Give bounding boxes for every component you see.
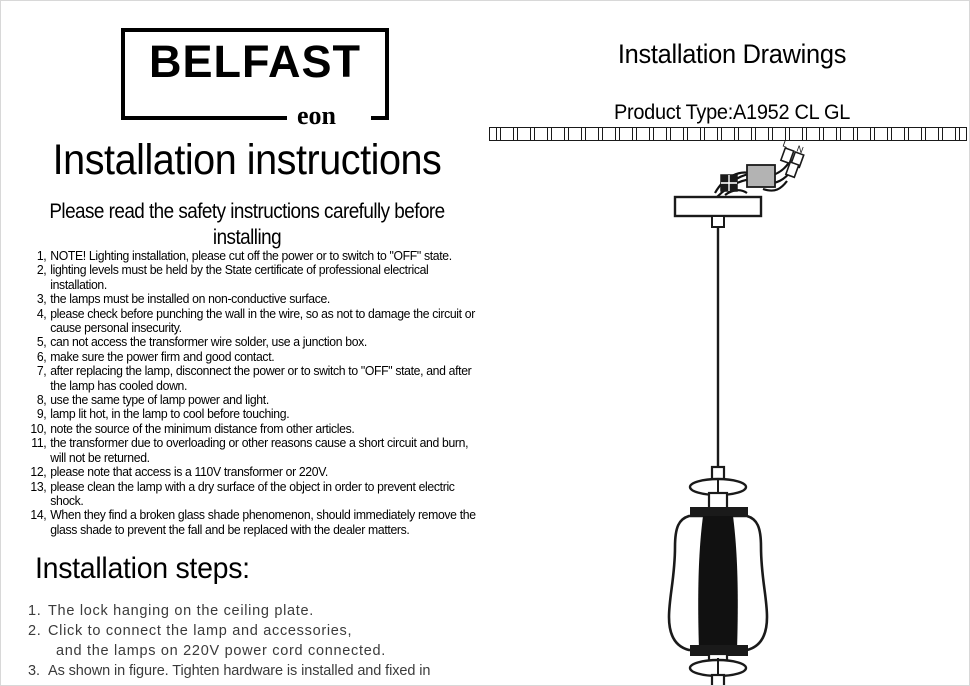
product-type-label: Product Type: <box>614 101 733 124</box>
safety-note-number: 8, <box>25 393 50 407</box>
safety-note-text: note the source of the minimum distance … <box>50 422 477 436</box>
installation-instruction-sheet: BELFAST eon Installation instructions Pl… <box>0 0 970 686</box>
installation-step-text: As shown in figure. Tighten hardware is … <box>48 661 488 686</box>
safety-note-item: 4,please check before punching the wall … <box>25 307 477 336</box>
safety-note-number: 10, <box>25 422 50 436</box>
logo-border-bottom-left <box>121 116 287 120</box>
installation-step-item: 2.Click to connect the lamp and accessor… <box>28 621 488 641</box>
safety-note-text: please note that access is a 110V transf… <box>50 465 477 479</box>
safety-note-item: 12,please note that access is a 110V tra… <box>25 465 477 479</box>
installation-step-item: 1.The lock hanging on the ceiling plate. <box>28 601 488 621</box>
safety-note-item: 13,please clean the lamp with a dry surf… <box>25 480 477 509</box>
page-title: Installation instructions <box>21 135 474 185</box>
safety-note-item: 6,make sure the power firm and good cont… <box>25 350 477 364</box>
safety-note-text: use the same type of lamp power and ligh… <box>50 393 477 407</box>
installation-steps-title: Installation steps: <box>35 551 250 587</box>
installation-step-number: 2. <box>28 621 48 641</box>
safety-note-text: When they find a broken glass shade phen… <box>50 508 477 537</box>
safety-note-text: please clean the lamp with a dry surface… <box>50 480 477 509</box>
lamp-assembly-svg: L N <box>493 127 970 686</box>
safety-note-text: please check before punching the wall in… <box>50 307 477 336</box>
safety-note-number: 4, <box>25 307 50 321</box>
safety-note-number: 6, <box>25 350 50 364</box>
right-column: Installation Drawings Product Type:A1952… <box>493 1 970 686</box>
safety-note-text: NOTE! Lighting installation, please cut … <box>50 249 477 263</box>
brand-name: BELFAST <box>121 34 389 90</box>
safety-notes-list: 1,NOTE! Lighting installation, please cu… <box>25 249 491 537</box>
safety-note-text: lighting levels must be held by the Stat… <box>50 263 477 292</box>
installation-steps-list: 1.The lock hanging on the ceiling plate.… <box>28 601 488 686</box>
safety-note-item: 5,can not access the transformer wire so… <box>25 335 477 349</box>
safety-note-text: after replacing the lamp, disconnect the… <box>50 364 477 393</box>
safety-note-item: 2,lighting levels must be held by the St… <box>25 263 477 292</box>
bottom-finial <box>712 675 724 686</box>
safety-note-number: 5, <box>25 335 50 349</box>
product-type: Product Type:A1952 CL GL <box>505 99 959 127</box>
logo-border-bottom-right <box>371 116 389 120</box>
safety-note-number: 14, <box>25 508 50 522</box>
safety-note-item: 10,note the source of the minimum distan… <box>25 422 477 436</box>
wire-label-neutral: N <box>795 143 805 155</box>
page-subtitle: Please read the safety instructions care… <box>26 199 469 251</box>
safety-note-item: 11,the transformer due to overloading or… <box>25 436 477 465</box>
safety-note-number: 3, <box>25 292 50 306</box>
brand-logo: BELFAST eon <box>121 28 389 120</box>
installation-step-item: 3.As shown in figure. Tighten hardware i… <box>28 661 488 686</box>
safety-note-number: 9, <box>25 407 50 421</box>
glass-shade-dark-band <box>698 516 738 650</box>
safety-note-item: 1,NOTE! Lighting installation, please cu… <box>25 249 477 263</box>
brand-subname: eon <box>293 103 340 129</box>
drawings-title: Installation Drawings <box>507 37 956 71</box>
safety-note-text: the lamps must be installed on non-condu… <box>50 292 477 306</box>
safety-note-number: 13, <box>25 480 50 494</box>
junction-box <box>747 165 775 187</box>
installation-step-number: 1. <box>28 601 48 621</box>
wire-label-live: L <box>781 138 789 149</box>
installation-step-number: 3. <box>28 661 48 681</box>
safety-note-text: make sure the power firm and good contac… <box>50 350 477 364</box>
safety-note-text: lamp lit hot, in the lamp to cool before… <box>50 407 477 421</box>
safety-note-item: 14,When they find a broken glass shade p… <box>25 508 477 537</box>
product-type-value: A1952 CL GL <box>733 101 850 124</box>
safety-note-item: 9,lamp lit hot, in the lamp to cool befo… <box>25 407 477 421</box>
safety-note-number: 11, <box>25 436 50 450</box>
installation-step-text: Click to connect the lamp and accessorie… <box>48 621 488 641</box>
left-column: BELFAST eon Installation instructions Pl… <box>1 1 493 686</box>
logo-border-top <box>121 28 389 32</box>
installation-step-text: The lock hanging on the ceiling plate. <box>48 601 488 621</box>
pendant-lamp-drawing: L N <box>493 127 970 686</box>
safety-note-text: the transformer due to overloading or ot… <box>50 436 477 465</box>
safety-note-number: 12, <box>25 465 50 479</box>
ceiling-plate-stem <box>712 216 724 227</box>
safety-note-text: can not access the transformer wire sold… <box>50 335 477 349</box>
safety-note-number: 1, <box>25 249 50 263</box>
safety-note-item: 7,after replacing the lamp, disconnect t… <box>25 364 477 393</box>
safety-note-item: 3,the lamps must be installed on non-con… <box>25 292 477 306</box>
safety-note-number: 7, <box>25 364 50 378</box>
safety-note-item: 8,use the same type of lamp power and li… <box>25 393 477 407</box>
installation-step-continuation: and the lamps on 220V power cord connect… <box>28 641 488 661</box>
terminal-block <box>721 175 737 191</box>
ceiling-plate <box>675 197 761 216</box>
safety-note-number: 2, <box>25 263 50 277</box>
